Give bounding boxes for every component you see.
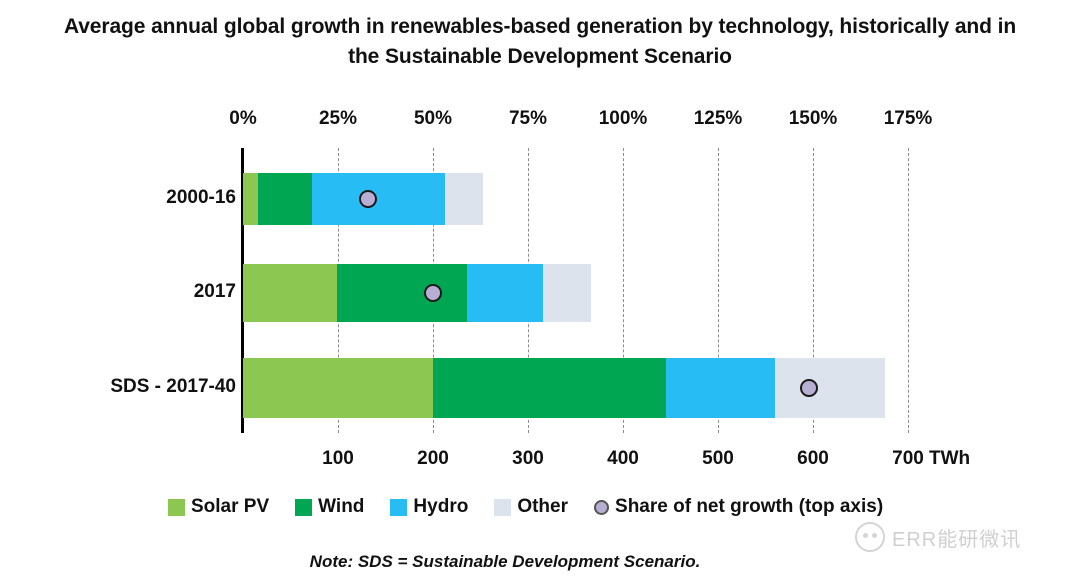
legend-marker-icon <box>594 500 609 515</box>
legend-label: Share of net growth (top axis) <box>615 496 883 518</box>
bottom-axis-tick: 100 <box>322 448 354 470</box>
top-axis-percent: 0%25%50%75%100%125%150%175% <box>0 108 1080 138</box>
legend-label: Solar PV <box>191 496 269 518</box>
legend-label: Other <box>517 496 568 518</box>
bottom-axis-tick: 400 <box>607 448 639 470</box>
top-axis-tick: 50% <box>414 108 452 130</box>
category-label: SDS - 2017-40 <box>16 376 236 398</box>
bar-segment-solar <box>243 358 433 418</box>
watermark-logo-icon <box>855 522 885 552</box>
share-of-net-growth-marker <box>800 379 818 397</box>
bottom-axis-tick: 300 <box>512 448 544 470</box>
legend-swatch-icon <box>494 499 511 516</box>
bottom-axis-tick: 600 <box>797 448 829 470</box>
gridline <box>908 148 909 433</box>
top-axis-tick: 175% <box>884 108 933 130</box>
top-axis-tick: 25% <box>319 108 357 130</box>
chart-title: Average annual global growth in renewabl… <box>30 12 1050 72</box>
chart-legend: Solar PVWindHydroOtherShare of net growt… <box>168 493 909 521</box>
share-of-net-growth-marker <box>359 190 377 208</box>
chart-note: Note: SDS = Sustainable Development Scen… <box>0 552 1010 572</box>
bar-segment-solar <box>243 173 258 225</box>
bottom-axis-twh: TWh 100200300400500600700 <box>0 448 1080 478</box>
chart-title-line-2: the Sustainable Development Scenario <box>348 45 732 68</box>
top-axis-tick: 100% <box>599 108 648 130</box>
bar-segment-other <box>543 264 591 322</box>
legend-item[interactable]: Wind <box>295 496 364 518</box>
chart-root: Average annual global growth in renewabl… <box>0 0 1080 585</box>
bottom-axis-tick: 700 <box>892 448 924 470</box>
bar-segment-other <box>775 358 885 418</box>
top-axis-tick: 125% <box>694 108 743 130</box>
share-of-net-growth-marker <box>424 284 442 302</box>
legend-label: Hydro <box>413 496 468 518</box>
bar-segment-wind <box>337 264 467 322</box>
legend-item[interactable]: Hydro <box>390 496 468 518</box>
top-axis-tick: 0% <box>229 108 256 130</box>
bar-segment-hydro <box>312 173 445 225</box>
bar-group <box>243 173 908 225</box>
bar-segment-hydro <box>666 358 775 418</box>
category-labels: 2000-162017SDS - 2017-40 <box>0 148 236 433</box>
bar-segment-wind <box>433 358 666 418</box>
bar-group <box>243 264 908 322</box>
legend-swatch-icon <box>295 499 312 516</box>
top-axis-tick: 75% <box>509 108 547 130</box>
legend-label: Wind <box>318 496 364 518</box>
bottom-axis-tick: 200 <box>417 448 449 470</box>
bottom-axis-tick: 500 <box>702 448 734 470</box>
bar-segment-other <box>445 173 483 225</box>
chart-title-line-1: Average annual global growth in renewabl… <box>64 15 1016 38</box>
axis-unit-label: TWh <box>929 448 970 470</box>
top-axis-tick: 150% <box>789 108 838 130</box>
category-label: 2017 <box>16 281 236 303</box>
legend-item[interactable]: Solar PV <box>168 496 269 518</box>
legend-item[interactable]: Other <box>494 496 568 518</box>
legend-swatch-icon <box>390 499 407 516</box>
category-label: 2000-16 <box>16 187 236 209</box>
legend-swatch-icon <box>168 499 185 516</box>
watermark-text: ERR能研微讯 <box>892 523 1021 552</box>
watermark: ERR能研微讯 <box>855 522 1021 552</box>
bar-segment-hydro <box>467 264 543 322</box>
plot-area <box>243 148 908 433</box>
legend-item[interactable]: Share of net growth (top axis) <box>594 496 883 518</box>
bar-segment-solar <box>243 264 337 322</box>
bar-segment-wind <box>258 173 312 225</box>
